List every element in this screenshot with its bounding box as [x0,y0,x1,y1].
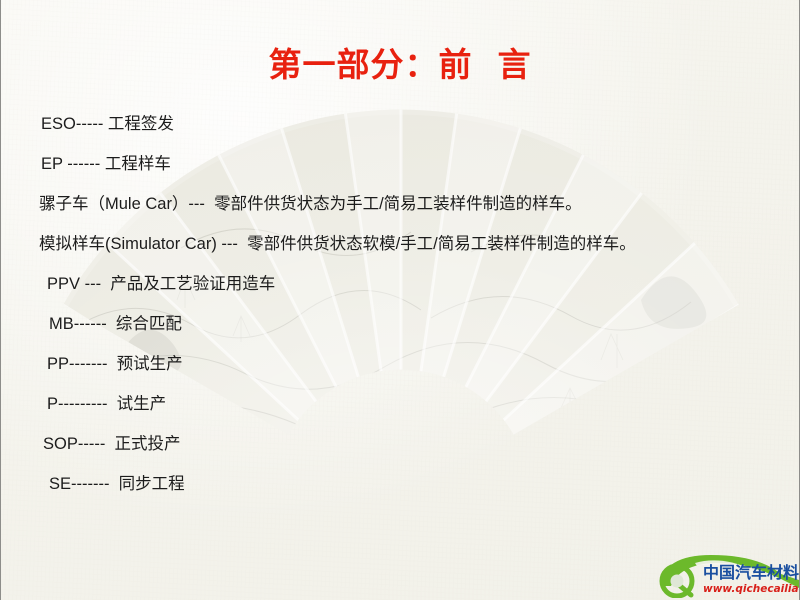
list-item-ep: EP ------ 工程样车 [41,156,171,173]
logo-url: www.qichecailiao.com [703,583,799,595]
slide-canvas: 第一部分：前 言 ESO----- 工程签发 EP ------ 工程样车 骡子… [0,0,800,600]
list-item-pp: PP------- 预试生产 [47,356,183,373]
list-item-mb: MB------ 综合匹配 [49,316,182,333]
list-item-sop: SOP----- 正式投产 [43,436,181,453]
list-item-simulator: 模拟样车(Simulator Car) --- 零部件供货状态软模/手工/简易工… [39,236,636,253]
page-title: 第一部分：前 言 [1,38,799,86]
list-item-ppv: PPV --- 产品及工艺验证用造车 [47,276,275,293]
list-item-eso: ESO----- 工程签发 [41,116,174,133]
list-item-se: SE------- 同步工程 [49,476,185,493]
site-logo[interactable]: 中国汽车材料网 www.qichecailiao.com [649,552,799,598]
list-item-mule-car: 骡子车（Mule Car）--- 零部件供货状态为手工/简易工装样件制造的样车。 [39,196,582,213]
logo-brand-name: 中国汽车材料网 [703,563,799,582]
list-item-p: P--------- 试生产 [47,396,166,413]
paper-grain-texture [1,0,799,600]
